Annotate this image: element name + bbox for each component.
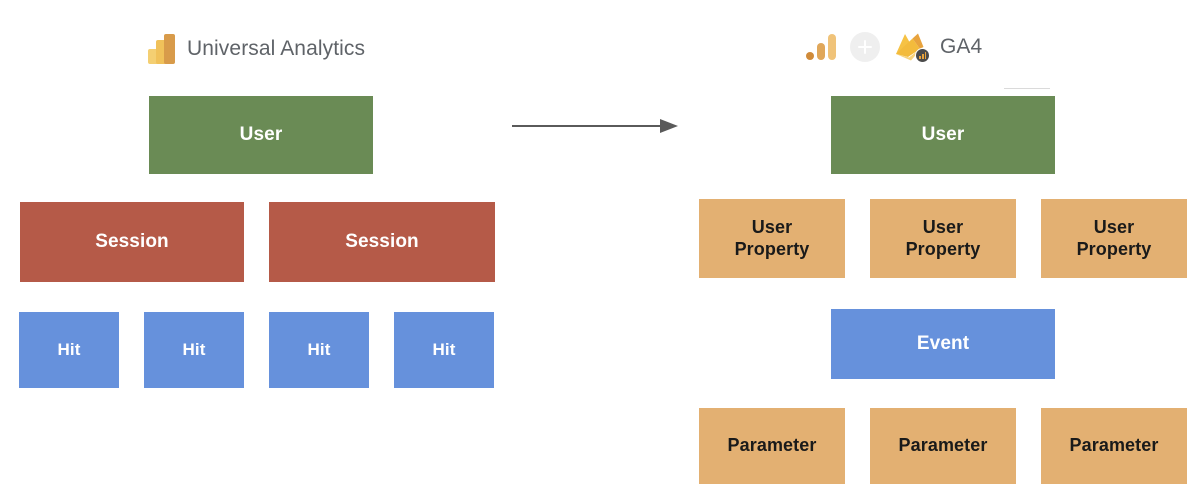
- ga4-user-property-box-3: User Property: [1041, 199, 1187, 278]
- ga4-header: GA4: [806, 32, 982, 62]
- ua-session-box-1: Session: [20, 202, 244, 282]
- ga4-parameter-label: Parameter: [728, 435, 817, 456]
- ga4-user-property-label-line2: Property: [906, 239, 981, 260]
- ga4-parameter-label: Parameter: [1070, 435, 1159, 456]
- plus-circle-icon: [850, 32, 880, 62]
- ga4-user-property-label-line1: User: [752, 217, 792, 238]
- diagram-canvas: Universal Analytics GA4 User Session Ses…: [0, 0, 1200, 498]
- google-analytics-bars-icon: [806, 34, 836, 60]
- ga4-parameter-box-1: Parameter: [699, 408, 845, 484]
- ua-hit-box-4: Hit: [394, 312, 494, 388]
- ua-hit-label: Hit: [58, 340, 81, 360]
- ga4-parameter-box-2: Parameter: [870, 408, 1016, 484]
- universal-analytics-bars-icon: [148, 34, 175, 64]
- ua-session-box-2: Session: [269, 202, 495, 282]
- ua-hit-label: Hit: [308, 340, 331, 360]
- ga4-user-property-label-line1: User: [1094, 217, 1134, 238]
- ga4-user-property-label-line2: Property: [735, 239, 810, 260]
- ga4-event-box: Event: [831, 309, 1055, 379]
- ga4-user-property-label-line1: User: [923, 217, 963, 238]
- ua-hit-box-2: Hit: [144, 312, 244, 388]
- ua-session-label: Session: [95, 231, 169, 253]
- ga4-user-label: User: [922, 124, 965, 146]
- ga4-title: GA4: [940, 35, 982, 59]
- ga4-user-property-box-1: User Property: [699, 199, 845, 278]
- universal-analytics-title: Universal Analytics: [187, 37, 365, 61]
- ga4-parameter-box-3: Parameter: [1041, 408, 1187, 484]
- ga4-user-property-label-line2: Property: [1077, 239, 1152, 260]
- analytics-badge-icon: [915, 48, 930, 63]
- ua-user-label: User: [240, 124, 283, 146]
- ga4-user-box: User: [831, 96, 1055, 174]
- ua-hit-box-3: Hit: [269, 312, 369, 388]
- firebase-flame-analytics-icon: [894, 32, 928, 62]
- right-arrow-icon: [512, 116, 678, 141]
- ua-hit-label: Hit: [183, 340, 206, 360]
- ga4-parameter-label: Parameter: [899, 435, 988, 456]
- ga4-user-property-box-2: User Property: [870, 199, 1016, 278]
- selection-artifact-line: [1004, 88, 1050, 89]
- ga4-event-label: Event: [917, 333, 969, 355]
- ua-user-box: User: [149, 96, 373, 174]
- ua-hit-label: Hit: [433, 340, 456, 360]
- universal-analytics-header: Universal Analytics: [148, 34, 365, 64]
- ua-hit-box-1: Hit: [19, 312, 119, 388]
- ua-session-label: Session: [345, 231, 419, 253]
